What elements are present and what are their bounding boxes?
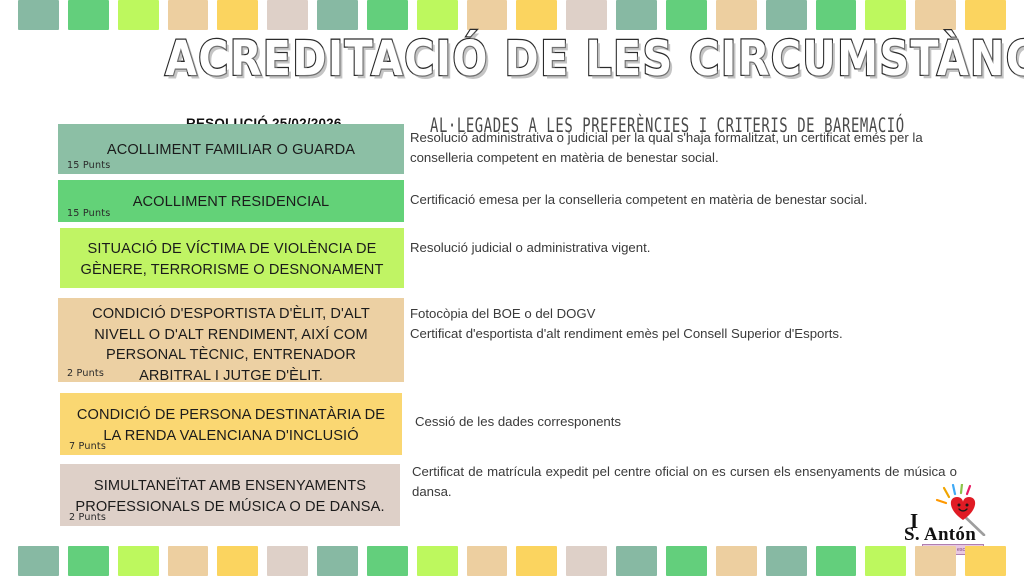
page-title: ACREDITACIÓ DE LES CIRCUMSTÀNCIES bbox=[165, 30, 865, 87]
color-swatch bbox=[865, 0, 906, 30]
color-swatch bbox=[766, 0, 807, 30]
criterion-label-box: SITUACIÓ DE VÍCTIMA DE VIOLÈNCIA DE GÈNE… bbox=[60, 228, 404, 288]
criterion-label: ACOLLIMENT RESIDENCIAL bbox=[66, 186, 396, 219]
color-swatch bbox=[367, 0, 408, 30]
criterion-label-box: ACOLLIMENT FAMILIAR O GUARDA15 Punts bbox=[58, 124, 404, 174]
color-swatch bbox=[168, 0, 209, 30]
color-swatch bbox=[417, 546, 458, 576]
top-color-strip bbox=[0, 0, 1024, 30]
color-swatch bbox=[915, 546, 956, 576]
color-swatch bbox=[417, 0, 458, 30]
criterion-description: Resolució administrativa o judicial per … bbox=[410, 128, 955, 169]
criterion-label: ACOLLIMENT FAMILIAR O GUARDA bbox=[66, 130, 396, 171]
color-swatch bbox=[816, 546, 857, 576]
color-swatch bbox=[217, 546, 258, 576]
color-swatch bbox=[566, 546, 607, 576]
color-swatch bbox=[666, 0, 707, 30]
color-swatch bbox=[317, 0, 358, 30]
color-swatch bbox=[18, 546, 59, 576]
criterion-label-box: SIMULTANEÏTAT AMB ENSENYAMENTS PROFESSIO… bbox=[60, 464, 400, 526]
criterion-label-box: CONDICIÓ DE PERSONA DESTINATÀRIA DE LA R… bbox=[60, 393, 402, 455]
color-swatch bbox=[516, 0, 557, 30]
color-swatch bbox=[467, 546, 508, 576]
color-swatch bbox=[18, 0, 59, 30]
points-badge: 2 Punts bbox=[69, 512, 106, 523]
color-swatch bbox=[965, 0, 1006, 30]
points-badge: 15 Punts bbox=[67, 208, 110, 219]
color-swatch bbox=[467, 0, 508, 30]
criterion-description: Fotocòpia del BOE o del DOGV Certificat … bbox=[410, 304, 955, 345]
color-swatch bbox=[915, 0, 956, 30]
color-swatch bbox=[267, 546, 308, 576]
color-swatch bbox=[716, 0, 757, 30]
color-swatch bbox=[68, 0, 109, 30]
color-swatch bbox=[566, 0, 607, 30]
color-swatch bbox=[317, 546, 358, 576]
color-swatch bbox=[118, 546, 159, 576]
color-swatch bbox=[766, 546, 807, 576]
criterion-label: SITUACIÓ DE VÍCTIMA DE VIOLÈNCIA DE GÈNE… bbox=[68, 234, 396, 285]
criterion-description: Resolució judicial o administrativa vige… bbox=[410, 238, 955, 258]
logo-school-name: S. Antón bbox=[904, 524, 976, 546]
criterion-label: SIMULTANEÏTAT AMB ENSENYAMENTS PROFESSIO… bbox=[68, 470, 392, 523]
poster-page: ACREDITACIÓ DE LES CIRCUMSTÀNCIES RESOLU… bbox=[0, 0, 1024, 576]
color-swatch bbox=[616, 0, 657, 30]
poster-header: ACREDITACIÓ DE LES CIRCUMSTÀNCIES RESOLU… bbox=[0, 28, 1024, 116]
color-swatch bbox=[217, 0, 258, 30]
criterion-label-box: ACOLLIMENT RESIDENCIAL15 Punts bbox=[58, 180, 404, 222]
criterion-label-box: CONDICIÓ D'ESPORTISTA D'ÈLIT, D'ALT NIVE… bbox=[58, 298, 404, 382]
color-swatch bbox=[965, 546, 1006, 576]
color-swatch bbox=[616, 546, 657, 576]
color-swatch bbox=[68, 546, 109, 576]
color-swatch bbox=[267, 0, 308, 30]
points-badge: 7 Punts bbox=[69, 441, 106, 452]
color-swatch bbox=[816, 0, 857, 30]
criterion-label: CONDICIÓ D'ESPORTISTA D'ÈLIT, D'ALT NIVE… bbox=[66, 304, 396, 387]
points-badge: 2 Punts bbox=[67, 368, 104, 379]
color-swatch bbox=[716, 546, 757, 576]
color-swatch bbox=[516, 546, 557, 576]
criterion-description: Cessió de les dades corresponents bbox=[415, 412, 960, 432]
color-swatch bbox=[865, 546, 906, 576]
color-swatch bbox=[666, 546, 707, 576]
bottom-color-strip bbox=[0, 546, 1024, 576]
criterion-description: Certificació emesa per la conselleria co… bbox=[410, 190, 955, 210]
criterion-description: Certificat de matrícula expedit pel cent… bbox=[412, 462, 957, 503]
points-badge: 15 Punts bbox=[67, 160, 110, 171]
color-swatch bbox=[367, 546, 408, 576]
color-swatch bbox=[118, 0, 159, 30]
color-swatch bbox=[168, 546, 209, 576]
criterion-label: CONDICIÓ DE PERSONA DESTINATÀRIA DE LA R… bbox=[68, 399, 394, 452]
